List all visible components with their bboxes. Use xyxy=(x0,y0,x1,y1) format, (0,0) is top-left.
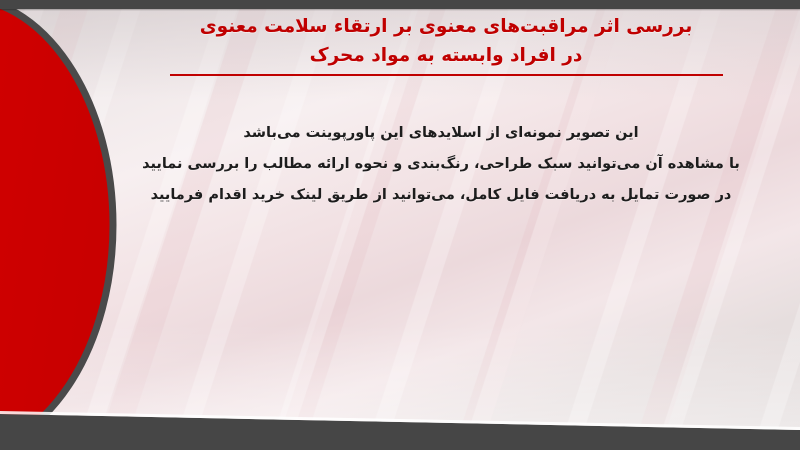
top-accent-bar-shadow xyxy=(0,9,800,11)
slide-title: بررسی اثر مراقبت‌های معنوی بر ارتقاء سلا… xyxy=(110,12,782,76)
slide-body-text: این تصویر نمونه‌ای از اسلایدهای این پاور… xyxy=(96,118,786,211)
bottom-slanted-bar xyxy=(0,390,800,450)
top-accent-bar xyxy=(0,0,800,9)
slide-title-line-1: بررسی اثر مراقبت‌های معنوی بر ارتقاء سلا… xyxy=(110,12,782,41)
presentation-slide: بررسی اثر مراقبت‌های معنوی بر ارتقاء سلا… xyxy=(0,0,800,450)
slide-title-line-2: در افراد وابسته به مواد محرک xyxy=(110,41,782,70)
title-underline-rule xyxy=(170,74,723,76)
body-text-line-1: این تصویر نمونه‌ای از اسلایدهای این پاور… xyxy=(96,118,786,149)
body-text-line-2: با مشاهده آن می‌توانید سبک طراحی، رنگ‌بن… xyxy=(96,149,786,180)
body-text-line-3: در صورت تمایل به دریافت فایل کامل، می‌تو… xyxy=(96,180,786,211)
